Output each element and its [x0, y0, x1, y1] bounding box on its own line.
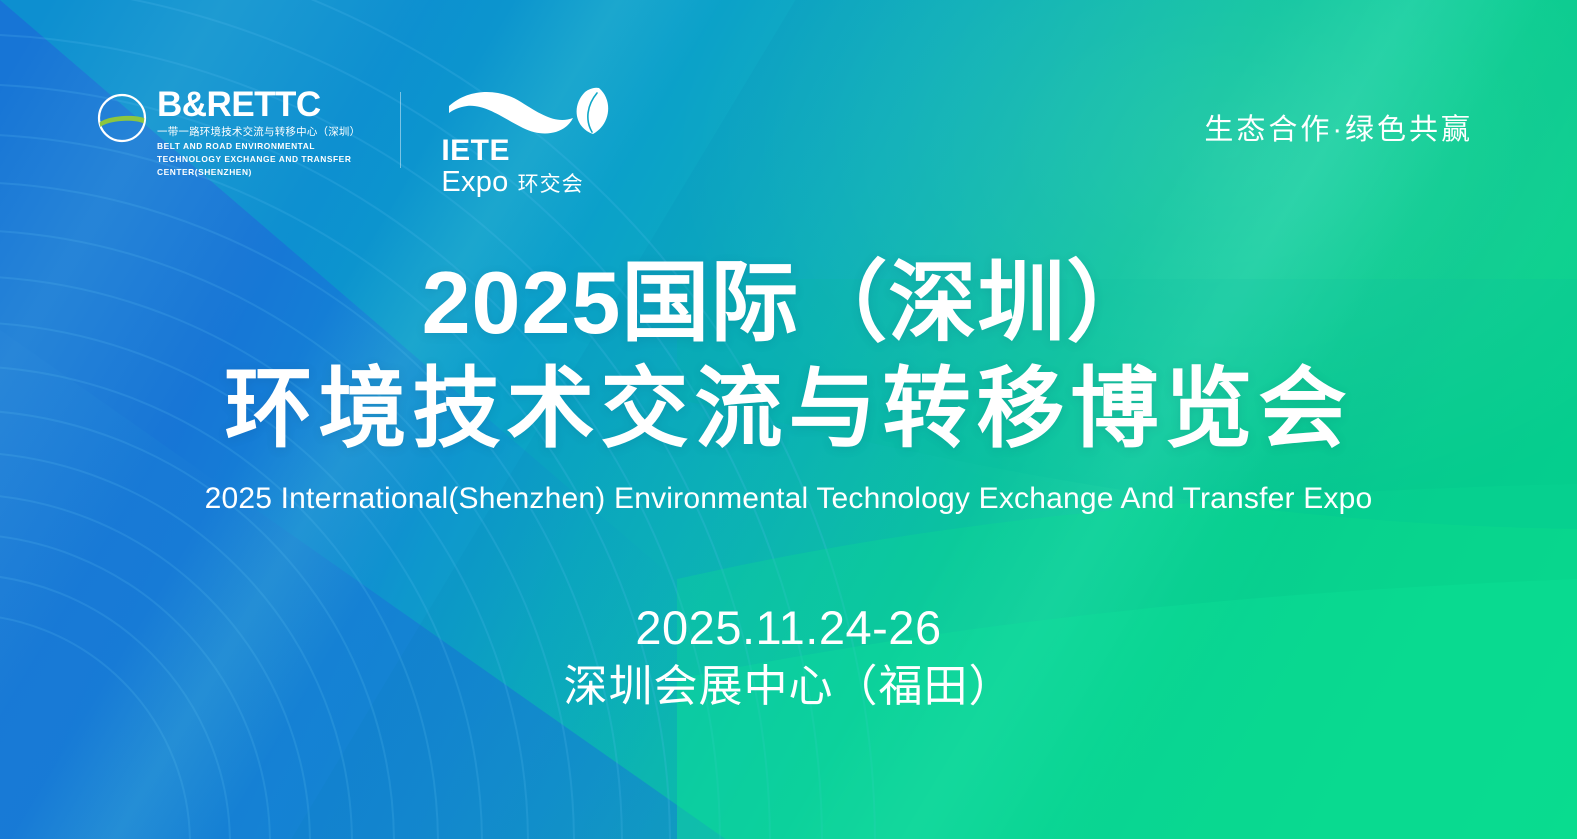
event-date: 2025.11.24-26: [635, 600, 941, 655]
brettc-wordmark: B&RETTC: [157, 88, 360, 122]
brettc-english-line-3: CENTER(SHENZHEN): [157, 167, 360, 179]
brettc-english-line-1: BELT AND ROAD ENVIRONMENTAL: [157, 141, 360, 153]
brettc-chinese-name: 一带一路环境技术交流与转移中心（深圳）: [157, 125, 360, 140]
iete-chinese-word: 环交会: [518, 174, 584, 195]
iete-expo-word: Expo: [441, 168, 508, 197]
title-line-2: 环境技术交流与转移博览会: [224, 364, 1352, 454]
subtitle-english: 2025 International(Shenzhen) Environment…: [205, 482, 1373, 516]
title-line-1: 2025国际（深圳）: [422, 258, 1156, 348]
logo-group: B&RETTC 一带一路环境技术交流与转移中心（深圳） BELT AND ROA…: [96, 86, 613, 190]
brettc-logo[interactable]: B&RETTC 一带一路环境技术交流与转移中心（深圳） BELT AND ROA…: [96, 86, 360, 179]
iete-expo-logo[interactable]: IETE Expo 环交会: [441, 86, 613, 190]
event-info-block: 2025.11.24-26 深圳会展中心（福田）: [0, 600, 1577, 714]
title-block: 2025国际（深圳） 环境技术交流与转移博览会 2025 Internation…: [0, 258, 1577, 516]
brettc-english-line-2: TECHNOLOGY EXCHANGE AND TRANSFER: [157, 154, 360, 166]
logo-divider: [400, 92, 401, 168]
iete-wordmark: IETE Expo 环交会: [441, 136, 583, 197]
banner-header: B&RETTC 一带一路环境技术交流与转移中心（深圳） BELT AND ROA…: [0, 0, 1577, 190]
banner-tagline: 生态合作·绿色共赢: [1204, 86, 1473, 148]
expo-banner: B&RETTC 一带一路环境技术交流与转移中心（深圳） BELT AND ROA…: [0, 0, 1577, 839]
event-venue: 深圳会展中心（福田）: [564, 661, 1014, 714]
iete-line-2-row: Expo 环交会: [441, 168, 583, 197]
globe-icon: [96, 92, 148, 144]
iete-line-1: IETE: [441, 134, 510, 167]
brettc-text-block: B&RETTC 一带一路环境技术交流与转移中心（深圳） BELT AND ROA…: [157, 88, 360, 179]
